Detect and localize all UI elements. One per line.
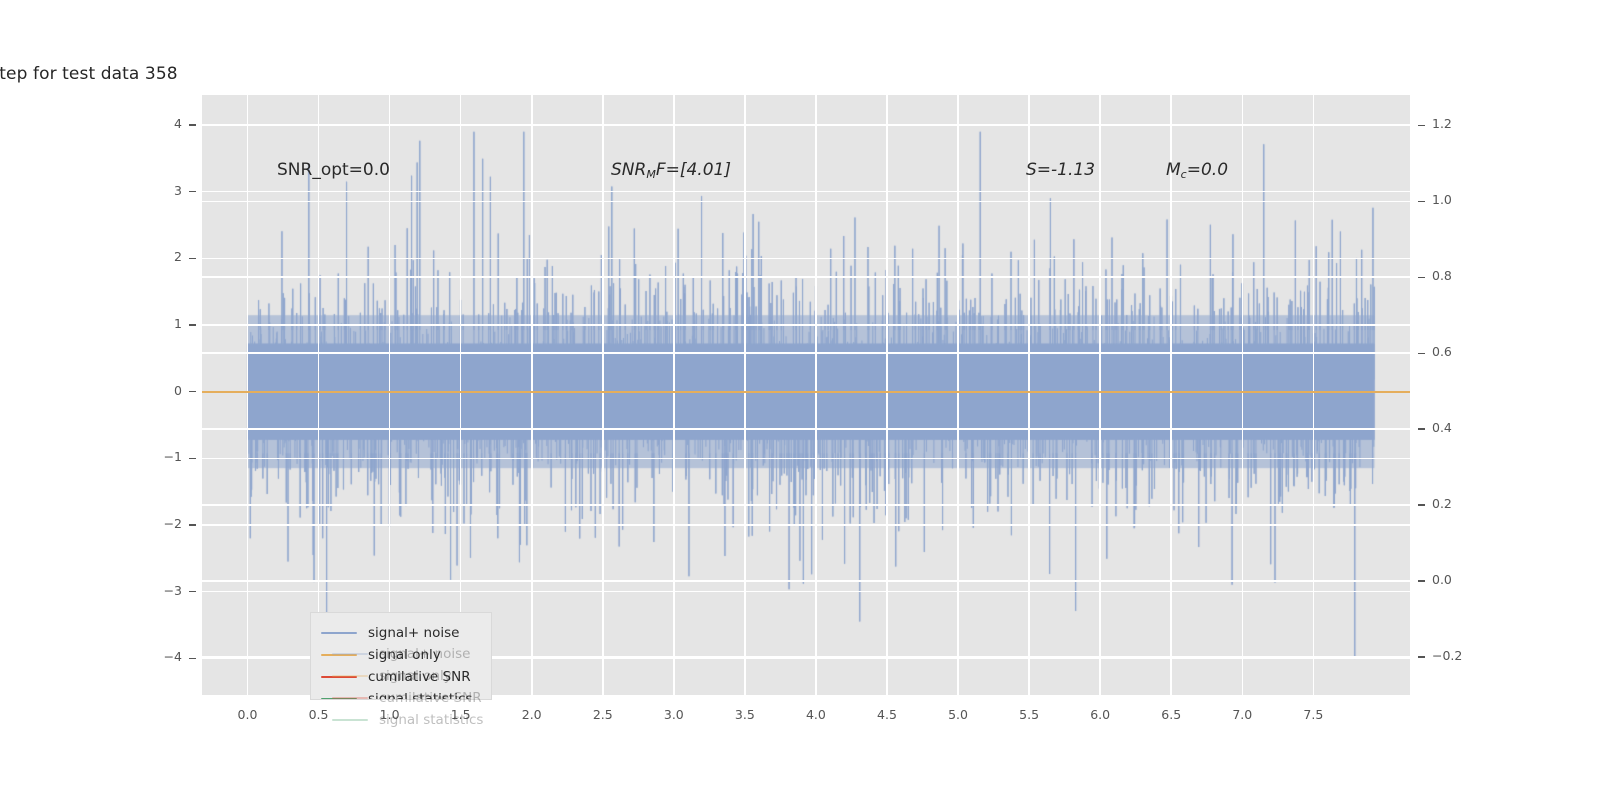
gridline-vertical	[1028, 95, 1030, 695]
y-tick-mark-right	[1418, 277, 1425, 278]
gridline-vertical	[318, 95, 320, 695]
gridline-vertical	[531, 95, 533, 695]
x-tick-label: 5.0	[928, 707, 988, 722]
x-tick-label: 4.0	[786, 707, 846, 722]
annotation-snr-mf: SNRMF=[4.01]	[611, 160, 731, 181]
gridline-horizontal-right	[202, 352, 1410, 354]
y-tick-mark-left	[189, 258, 196, 259]
y-tick-mark-right	[1418, 201, 1425, 202]
legend-swatch-ghost-3	[332, 719, 368, 721]
gridline-horizontal	[202, 524, 1410, 526]
x-tick-label: 2.5	[573, 707, 633, 722]
gridline-horizontal-right	[202, 428, 1410, 430]
legend-label: cumilative SNR	[379, 690, 482, 706]
plot-area	[202, 95, 1410, 695]
gridline-vertical	[1099, 95, 1101, 695]
gridline-vertical	[460, 95, 462, 695]
y-tick-mark-left	[189, 658, 196, 659]
annotation-tail: F=[4.01]	[656, 160, 731, 180]
gridline-vertical	[247, 95, 249, 695]
legend-label: signal+ noise	[379, 646, 470, 662]
gridline-vertical	[673, 95, 675, 695]
y-tick-label-left: −3	[140, 583, 182, 598]
y-tick-mark-right	[1418, 504, 1425, 505]
y-tick-label-left: −2	[140, 516, 182, 531]
legend-item[interactable]: signal only	[322, 665, 504, 687]
y-tick-label-right: 0.6	[1432, 344, 1452, 359]
gridline-horizontal-right	[202, 276, 1410, 278]
y-tick-label-left: −1	[140, 449, 182, 464]
legend-swatch-ghost-2	[332, 697, 368, 699]
y-tick-label-left: 2	[140, 249, 182, 264]
y-tick-label-right: 1.0	[1432, 192, 1452, 207]
annotation-tail: =0.0	[1187, 160, 1228, 180]
y-tick-label-right: 1.2	[1432, 116, 1452, 131]
legend-label: signal statistics	[379, 712, 483, 728]
y-tick-mark-left	[189, 591, 196, 592]
y-tick-label-left: −4	[140, 649, 182, 664]
gridline-vertical	[602, 95, 604, 695]
gridline-vertical	[744, 95, 746, 695]
gridline-vertical	[815, 95, 817, 695]
y-tick-label-left: 4	[140, 116, 182, 131]
y-tick-mark-right	[1418, 656, 1425, 657]
y-tick-label-left: 1	[140, 316, 182, 331]
y-tick-mark-left	[189, 191, 196, 192]
annotation-subscript: M	[646, 168, 656, 181]
y-tick-mark-right	[1418, 428, 1425, 429]
y-tick-label-right: 0.0	[1432, 572, 1452, 587]
legend-ghost: signal+ noisesignal onlycumilative SNRsi…	[322, 634, 504, 731]
x-tick-label: 4.5	[857, 707, 917, 722]
gridline-horizontal	[202, 191, 1410, 193]
y-tick-label-left: 3	[140, 183, 182, 198]
legend-item[interactable]: signal+ noise	[322, 643, 504, 665]
chart-title-text: stats at each timestep for test data 358	[0, 64, 178, 84]
y-tick-label-right: −0.2	[1432, 648, 1462, 663]
gridline-horizontal-right	[202, 125, 1410, 127]
gridline-horizontal-right	[202, 504, 1410, 506]
y-tick-mark-left	[189, 524, 196, 525]
legend-label: signal only	[379, 668, 452, 684]
annotation-main: SNR	[611, 160, 646, 180]
legend-swatch-ghost-0	[332, 653, 368, 655]
y-tick-mark-left	[189, 324, 196, 325]
y-tick-label-right: 0.8	[1432, 268, 1452, 283]
x-tick-label: 6.5	[1141, 707, 1201, 722]
gridline-vertical	[389, 95, 391, 695]
gridline-vertical	[1170, 95, 1172, 695]
chart-title: stats at each timestep for test data 358	[0, 64, 1600, 84]
gridline-vertical	[1313, 95, 1315, 695]
annotation-s-stat: S=-1.13	[1026, 160, 1095, 180]
x-tick-label: 3.0	[644, 707, 704, 722]
gridline-horizontal-right	[202, 201, 1410, 203]
gridline-horizontal	[202, 324, 1410, 326]
x-tick-label: 5.5	[999, 707, 1059, 722]
gridline-vertical	[1242, 95, 1244, 695]
gridline-horizontal	[202, 258, 1410, 260]
signal-noise-trace	[202, 95, 1410, 695]
annotation-snr-opt: SNR_opt=0.0	[277, 160, 390, 180]
x-tick-label: 6.0	[1070, 707, 1130, 722]
y-axis-label: Whitened strain	[0, 211, 3, 310]
y-tick-label-left: 0	[140, 383, 182, 398]
y-tick-mark-left	[189, 458, 196, 459]
gridline-vertical	[886, 95, 888, 695]
legend-item[interactable]: signal statistics	[322, 709, 504, 731]
x-tick-label: 2.0	[502, 707, 562, 722]
annotation-main: M	[1166, 160, 1181, 180]
x-tick-label: 3.5	[715, 707, 775, 722]
x-tick-label: 7.0	[1212, 707, 1272, 722]
legend-swatch-ghost-1	[332, 675, 368, 677]
y-tick-label-right: 0.4	[1432, 420, 1452, 435]
x-tick-label: 0.0	[217, 707, 277, 722]
gridline-horizontal-right	[202, 580, 1410, 582]
y-tick-mark-left	[189, 391, 196, 392]
y-tick-mark-right	[1418, 353, 1425, 354]
annotation-mc: Mc=0.0	[1166, 160, 1228, 181]
y-tick-mark-left	[189, 124, 196, 125]
y-tick-label-right: 0.2	[1432, 496, 1452, 511]
gridline-horizontal	[202, 591, 1410, 593]
legend-item[interactable]: cumilative SNR	[322, 687, 504, 709]
gridline-horizontal	[202, 458, 1410, 460]
y-tick-mark-right	[1418, 125, 1425, 126]
y-tick-mark-right	[1418, 580, 1425, 581]
figure: stats at each timestep for test data 358…	[0, 0, 1600, 800]
gridline-vertical	[957, 95, 959, 695]
x-tick-label: 7.5	[1283, 707, 1343, 722]
